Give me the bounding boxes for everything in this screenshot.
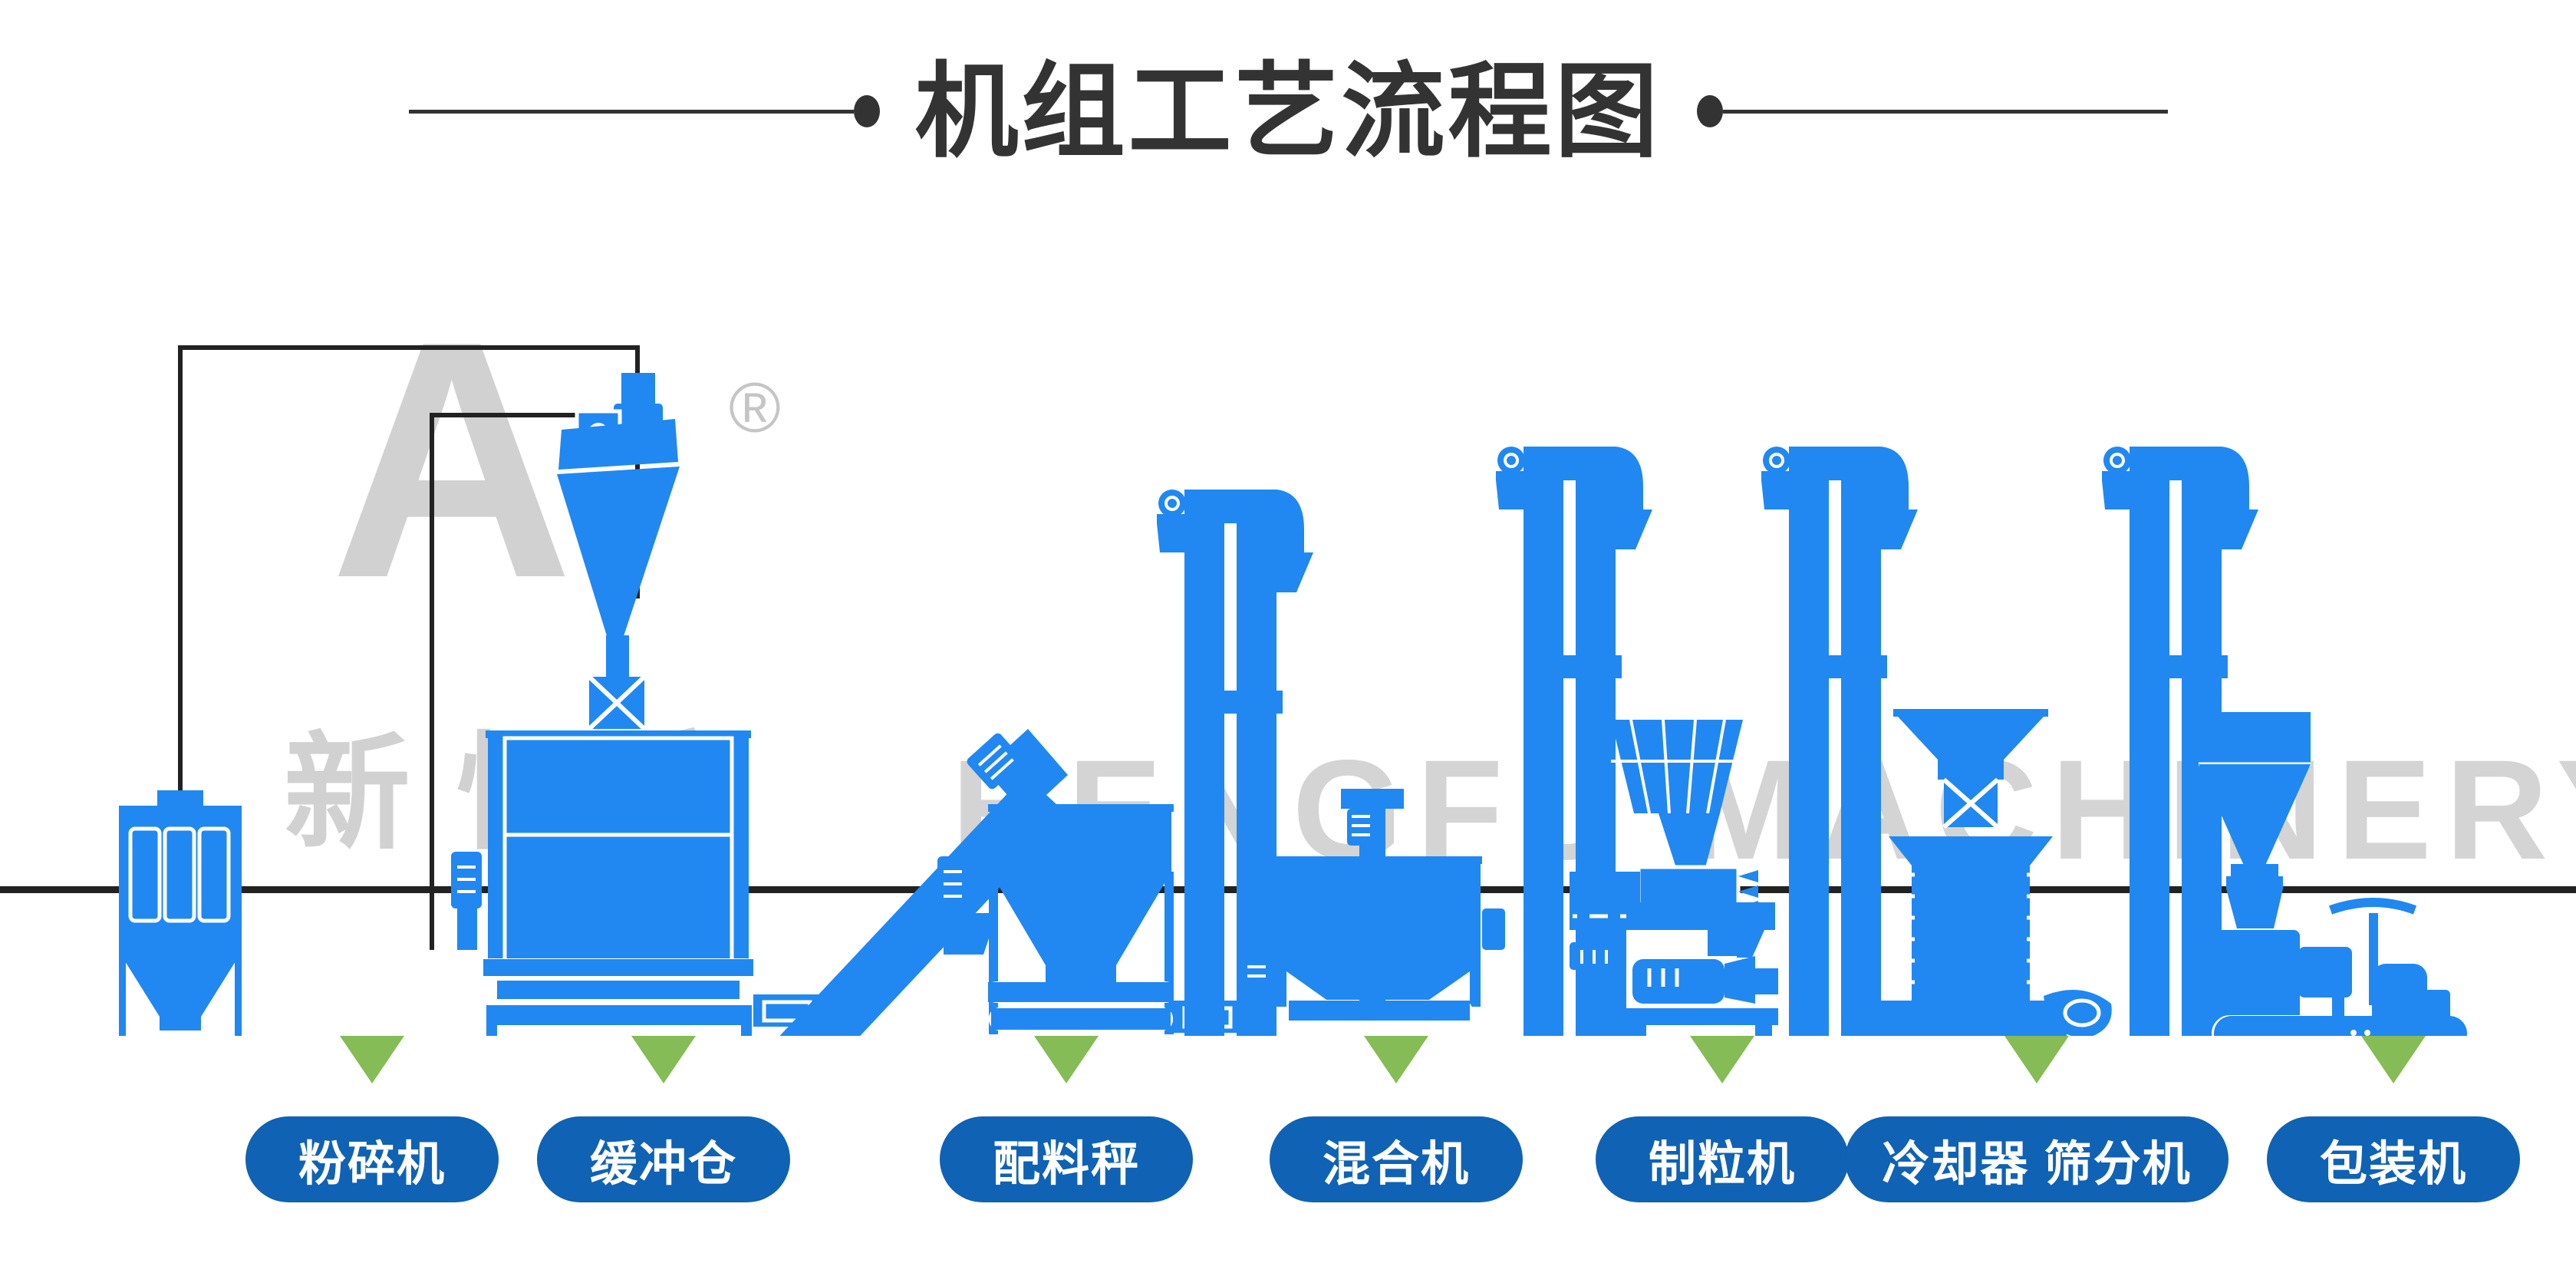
stage-arrow-packing <box>2361 1036 2426 1083</box>
cyclone-separator-icon <box>557 373 680 678</box>
process-flow-diagram: A ® 新恒富 HENGFU MACHINERY <box>0 192 2576 1036</box>
buffer-bin-icon <box>451 730 839 1036</box>
stage-chip-mixer[interactable]: 混合机 <box>1270 1116 1523 1202</box>
title-rule-left <box>409 110 854 114</box>
stage-arrow-cooler-sift <box>2004 1036 2069 1083</box>
counterflow-cooler-icon <box>1884 709 2057 1001</box>
page-title: 机组工艺流程图 <box>880 60 1697 163</box>
x-valve-icon <box>589 677 644 729</box>
stage-chip-pelletizer[interactable]: 制粒机 <box>1596 1116 1849 1202</box>
stage-chip-packing[interactable]: 包装机 <box>2267 1116 2520 1202</box>
dust-collector-icon <box>119 790 242 1036</box>
equipment-silhouettes <box>0 192 2576 1036</box>
stage-arrow-pelletizer <box>1690 1036 1754 1083</box>
horizontal-mixer-icon <box>1241 789 1505 1036</box>
stage-chip-crusher[interactable]: 粉碎机 <box>245 1116 499 1202</box>
stage-arrow-batch-scale <box>1034 1036 1099 1083</box>
title-dot-left-icon <box>854 95 880 127</box>
stage-chip-batch-scale[interactable]: 配料秤 <box>940 1116 1193 1202</box>
stage-arrow-buffer-bin <box>631 1036 696 1083</box>
vibrating-sifter-icon <box>1870 1001 2067 1036</box>
title-rule-right <box>1723 110 2168 114</box>
page-title-bar: 机组工艺流程图 <box>0 46 2576 176</box>
stage-chip-cooler-sift[interactable]: 冷却器 筛分机 <box>1845 1116 2228 1202</box>
stage-arrow-crusher <box>340 1036 404 1083</box>
title-dot-right-icon <box>1697 95 1723 127</box>
stage-arrow-mixer <box>1364 1036 1428 1083</box>
stage-chip-buffer-bin[interactable]: 缓冲仓 <box>537 1116 790 1202</box>
stage-label-row: 粉碎机 缓冲仓 配料秤 混合机 制粒机 冷却器 筛分机 包装机 <box>0 1036 2576 1286</box>
